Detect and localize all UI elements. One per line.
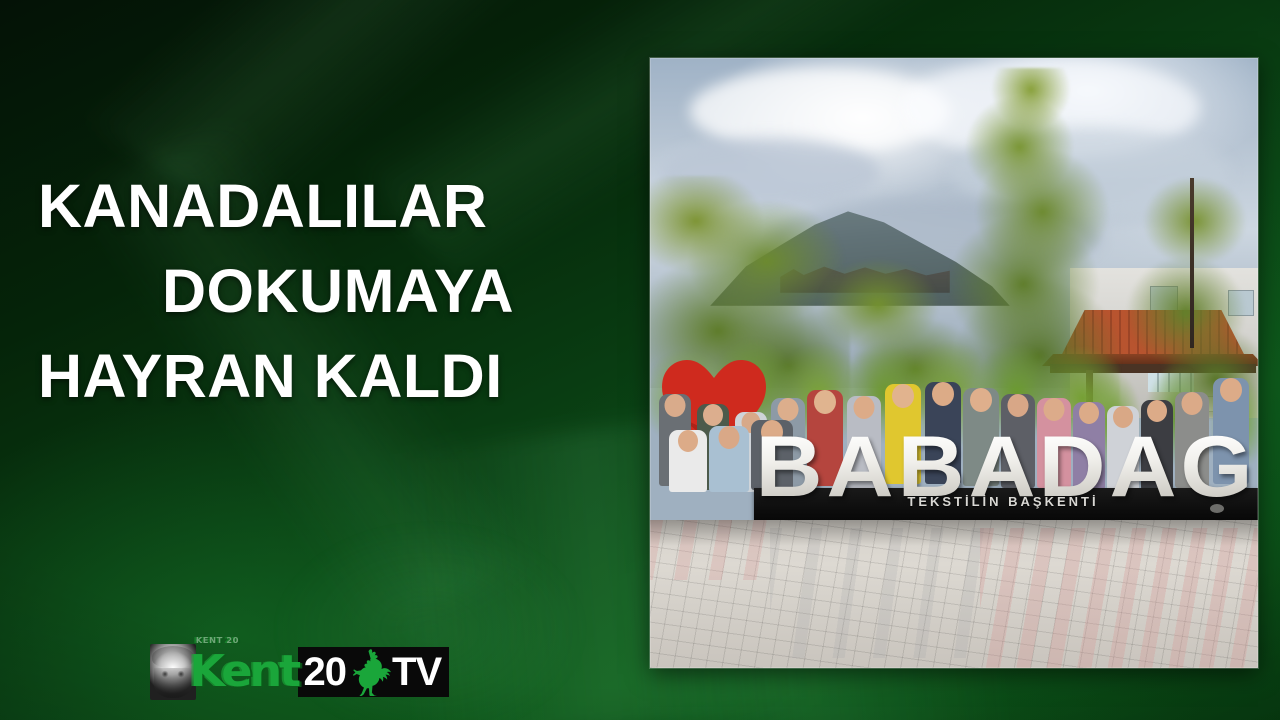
headline-block: KANADALILAR DOKUMAYA HAYRAN KALDI [38, 176, 638, 407]
photo-pavement-pink-band [980, 528, 1258, 668]
sign-subtitle: TEKSTİLİN BAŞKENTİ [800, 494, 1206, 509]
sign-letter: A [968, 432, 1035, 503]
photo-pavement-grey-band [770, 528, 990, 658]
sign-letter: Ğ [1180, 432, 1252, 503]
photo-utility-pole [1190, 178, 1194, 348]
headline-line-3: HAYRAN KALDI [38, 346, 638, 407]
person-seated [668, 430, 708, 516]
headline-line-2: DOKUMAYA [38, 261, 638, 322]
sign-letters: B A B A D A Ğ [754, 421, 1254, 503]
channel-logo[interactable]: KENT 20 Kent 20 TV [150, 644, 449, 700]
logo-superscript: KENT 20 [196, 637, 239, 645]
sign-letter: A [1110, 432, 1177, 503]
logo-suffix: TV [392, 652, 441, 692]
logo-wordmark: KENT 20 Kent [189, 650, 298, 694]
logo-wordmark-text: Kent [189, 646, 298, 697]
news-photo[interactable]: B A B A D A Ğ TEKSTİLİN BAŞKENTİ [650, 58, 1258, 668]
sign-letter: D [1039, 432, 1106, 503]
rooster-icon [347, 648, 391, 696]
sign-emblem [1210, 504, 1224, 513]
sign-letter: B [756, 432, 823, 503]
photo-pavement-shadow [650, 520, 1258, 546]
headline-line-1: KANADALILAR [38, 176, 638, 237]
logo-number: 20 [304, 652, 347, 692]
sign-letter: B [897, 432, 964, 503]
logo-badge: 20 TV [298, 647, 450, 697]
person-seated [708, 426, 750, 516]
sign-letter: A [826, 432, 893, 503]
thumbnail-canvas: KANADALILAR DOKUMAYA HAYRAN KALDI KENT 2… [0, 0, 1280, 720]
